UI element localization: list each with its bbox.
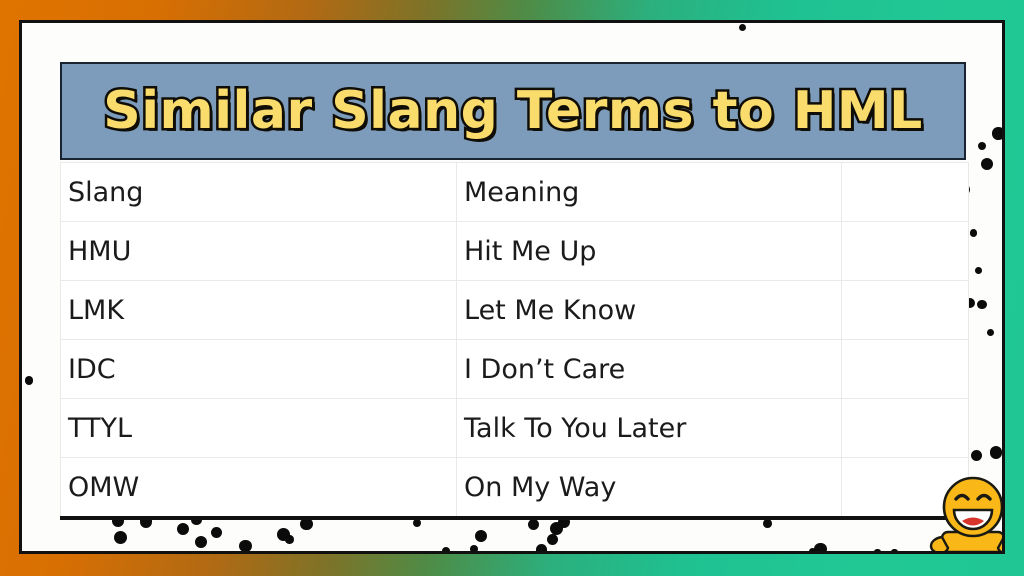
- table-row: HMUHit Me Up: [61, 222, 969, 281]
- polka-dot-card: Similar Slang Terms to HML SlangMeaning …: [19, 20, 1005, 554]
- table-row: TTYLTalk To You Later: [61, 399, 969, 458]
- table-cell-slang: HMU: [61, 222, 457, 281]
- table-cell-empty: [842, 399, 969, 458]
- table-row: OMWOn My Way: [61, 458, 969, 517]
- polka-dot: [990, 446, 1003, 459]
- table-cell-meaning: On My Way: [457, 458, 842, 517]
- table-cell-slang: LMK: [61, 281, 457, 340]
- punscorner-logo: PUNSCORNER: [918, 474, 1005, 554]
- polka-dot: [475, 530, 487, 542]
- polka-dot: [195, 536, 207, 548]
- table-cell-slang: IDC: [61, 340, 457, 399]
- column-header-slang: Slang: [61, 163, 457, 222]
- polka-dot: [987, 329, 994, 336]
- table-cell-slang: TTYL: [61, 399, 457, 458]
- table-cell-empty: [842, 163, 969, 222]
- polka-dot: [891, 549, 898, 554]
- polka-dot: [177, 523, 189, 535]
- polka-dot: [114, 531, 127, 544]
- polka-dot: [978, 142, 987, 151]
- polka-dot: [470, 545, 479, 554]
- table-header-row: SlangMeaning: [61, 163, 969, 222]
- polka-dot: [239, 540, 252, 553]
- table-cell-meaning: Hit Me Up: [457, 222, 842, 281]
- infographic-content: Similar Slang Terms to HML SlangMeaning …: [60, 62, 968, 519]
- polka-dot: [970, 229, 978, 237]
- table-row: LMKLet Me Know: [61, 281, 969, 340]
- title-banner: Similar Slang Terms to HML: [60, 62, 966, 160]
- polka-dot: [547, 534, 558, 545]
- polka-dot: [536, 544, 548, 554]
- table-cell-meaning: Let Me Know: [457, 281, 842, 340]
- polka-dot: [25, 376, 33, 384]
- table-row: IDCI Don’t Care: [61, 340, 969, 399]
- table-cell-meaning: Talk To You Later: [457, 399, 842, 458]
- column-header-meaning: Meaning: [457, 163, 842, 222]
- polka-dot: [814, 543, 827, 555]
- slang-terms-table: SlangMeaning HMUHit Me Up LMKLet Me Know…: [60, 162, 969, 517]
- laughing-face-icon: [944, 478, 1002, 536]
- table-cell-empty: [842, 222, 969, 281]
- polka-dot: [763, 519, 772, 528]
- polka-dot: [528, 519, 539, 530]
- punscorner-logo-graphic: PUNSCORNER: [918, 474, 1005, 554]
- polka-dot: [874, 549, 881, 555]
- page-title: Similar Slang Terms to HML: [103, 81, 922, 141]
- polka-dot: [975, 267, 982, 274]
- polka-dot: [981, 158, 993, 170]
- polka-dot: [971, 450, 982, 461]
- table-cell-empty: [842, 340, 969, 399]
- table-cell-meaning: I Don’t Care: [457, 340, 842, 399]
- polka-dot: [211, 527, 222, 538]
- table-cell-slang: OMW: [61, 458, 457, 517]
- polka-dot: [739, 24, 746, 31]
- table-bottom-rule: [60, 516, 968, 520]
- table-cell-empty: [842, 281, 969, 340]
- polka-dot: [442, 547, 450, 555]
- polka-dot: [285, 535, 293, 543]
- polka-dot: [992, 127, 1004, 139]
- polka-dot: [977, 300, 987, 310]
